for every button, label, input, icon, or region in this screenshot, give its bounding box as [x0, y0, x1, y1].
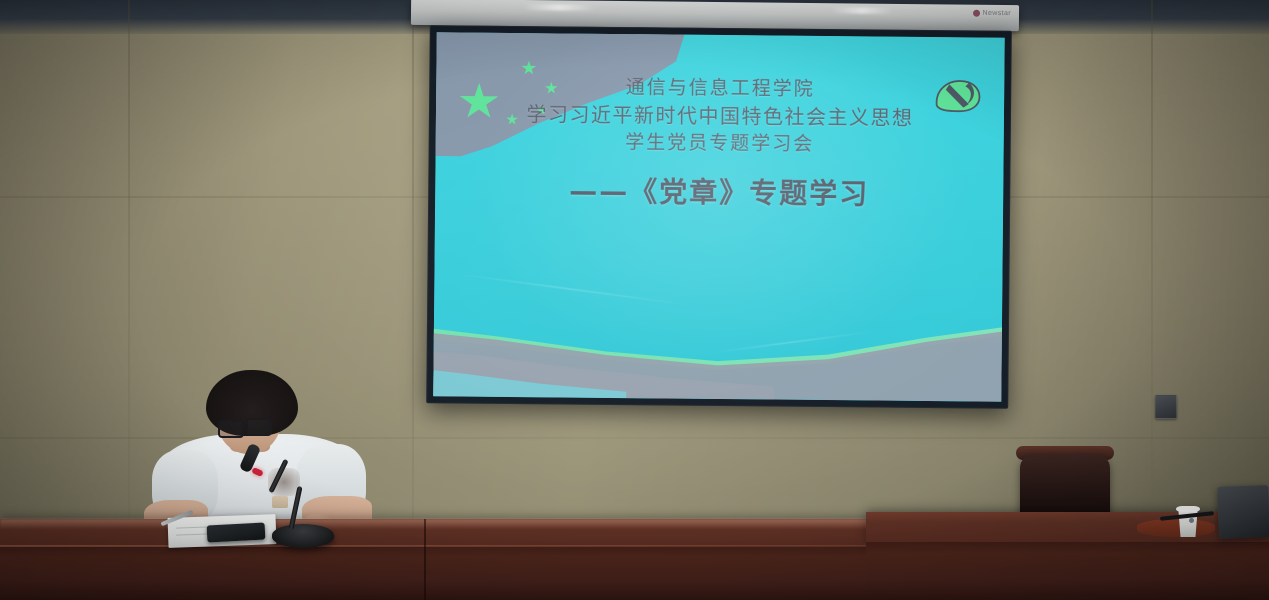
- brand-mark-icon: [973, 10, 980, 17]
- conference-table-front-far: [866, 542, 1269, 600]
- wall-seam-vertical: [1151, 0, 1153, 600]
- smartphone[interactable]: [207, 522, 266, 542]
- eyeglasses-left-lens: [218, 420, 244, 438]
- roller-highlight: [523, 4, 595, 11]
- laptop-screen[interactable]: [1217, 485, 1269, 539]
- slide-headline: ——《党章》专题学习: [435, 169, 1003, 214]
- roller-brand-logo: Newstar: [973, 10, 1012, 17]
- wall-seam-vertical: [128, 0, 130, 600]
- slide-line-3: 学生党员专题学习会: [436, 128, 1004, 160]
- eyeglasses-bridge: [239, 425, 247, 427]
- projection-screen[interactable]: 通信与信息工程学院 学习习近平新时代中国特色社会主义思想 学生党员专题学习会 —…: [426, 25, 1012, 409]
- table-segment-seam: [424, 519, 426, 600]
- roller-highlight: [831, 7, 893, 14]
- microphone-base[interactable]: [272, 524, 334, 548]
- wall-seam-vertical: [412, 0, 414, 600]
- presentation-room-photo: Newstar: [0, 0, 1269, 600]
- tshirt-tag: [272, 496, 288, 508]
- eyeglasses-right-lens: [246, 418, 272, 436]
- roller-brand-label: Newstar: [983, 10, 1012, 17]
- red-tray[interactable]: [1137, 519, 1215, 537]
- paper-cup-rim: [1176, 506, 1200, 512]
- slide-text-block: 通信与信息工程学院 学习习近平新时代中国特色社会主义思想 学生党员专题学习会 —…: [435, 72, 1004, 214]
- paper-cup-logo: [1189, 518, 1194, 523]
- projected-slide: 通信与信息工程学院 学习习近平新时代中国特色社会主义思想 学生党员专题学习会 —…: [433, 32, 1004, 401]
- wall-outlet[interactable]: [1155, 395, 1177, 419]
